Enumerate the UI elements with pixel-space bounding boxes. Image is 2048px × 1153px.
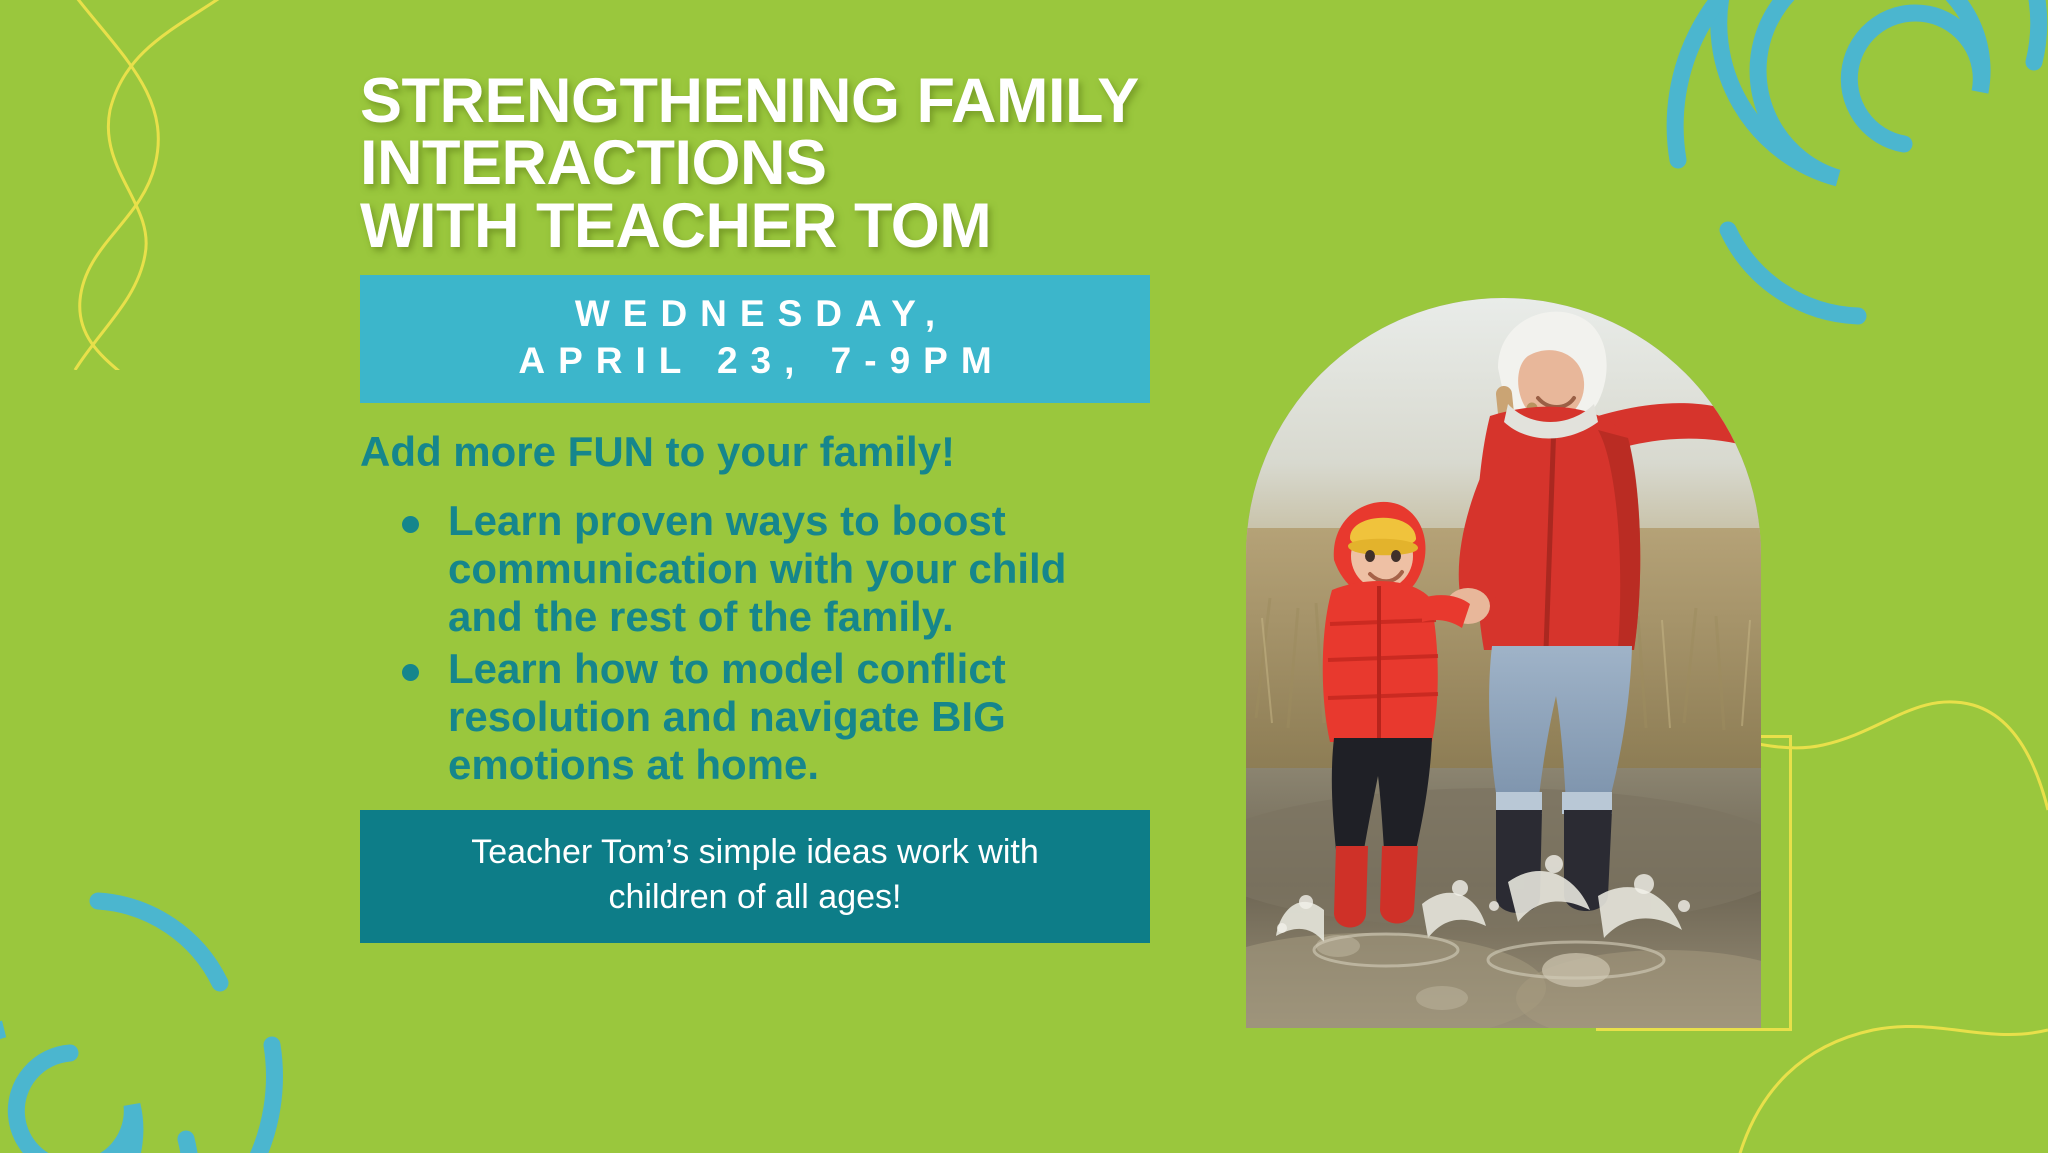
headline-line-1: STRENGTHENING FAMILY: [360, 70, 1160, 132]
headline-line-3: WITH TEACHER TOM: [360, 195, 1160, 257]
squiggle-line-icon: [0, 0, 280, 370]
flyer-canvas: STRENGTHENING FAMILY INTERACTIONS WITH T…: [0, 0, 2048, 1153]
content-column: STRENGTHENING FAMILY INTERACTIONS WITH T…: [360, 70, 1160, 943]
spiral-icon: [1618, 0, 2048, 330]
photo-family-puddle: [1246, 298, 1761, 1028]
spiral-icon: [0, 863, 340, 1153]
event-day: WEDNESDAY,: [360, 291, 1150, 338]
bullet-dot-icon: [402, 664, 419, 681]
callout-box: Teacher Tom’s simple ideas work with chi…: [360, 810, 1150, 942]
event-date-banner: WEDNESDAY, APRIL 23, 7-9PM: [360, 275, 1150, 403]
headline-line-2: INTERACTIONS: [360, 132, 1160, 194]
bullet-dot-icon: [402, 516, 419, 533]
list-item: Learn proven ways to boost communication…: [360, 497, 1108, 641]
list-item-label: Learn proven ways to boost communication…: [448, 497, 1066, 640]
page-title: STRENGTHENING FAMILY INTERACTIONS WITH T…: [360, 70, 1160, 257]
tagline: Add more FUN to your family!: [360, 429, 1160, 475]
event-date-time: APRIL 23, 7-9PM: [360, 338, 1150, 385]
benefits-list: Learn proven ways to boost communication…: [360, 497, 1160, 788]
callout-line-2: children of all ages!: [394, 875, 1116, 919]
callout-line-1: Teacher Tom’s simple ideas work with: [394, 830, 1116, 874]
list-item-label: Learn how to model conflict resolution a…: [448, 645, 1006, 788]
list-item: Learn how to model conflict resolution a…: [360, 645, 1108, 789]
